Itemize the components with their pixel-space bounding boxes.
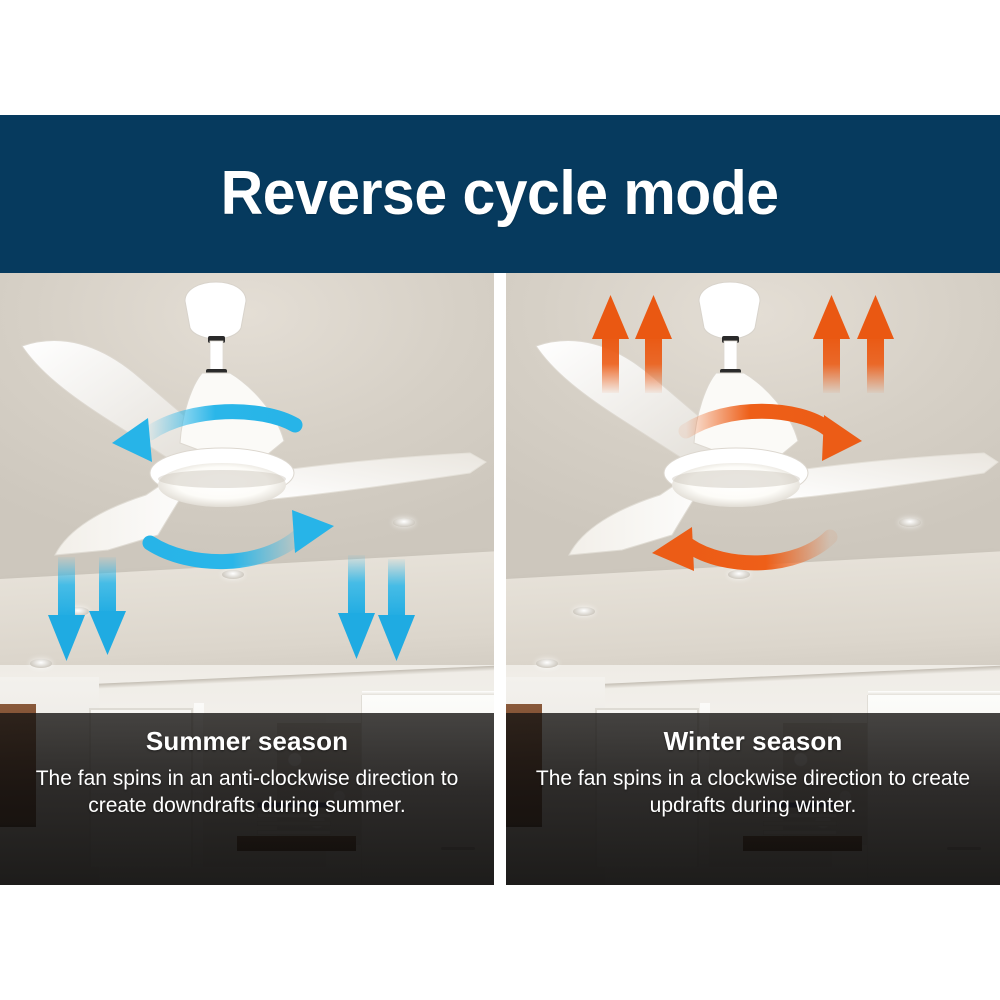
product-feature-image: Reverse cycle mode [0,0,1000,1000]
rotation-arrow-bottom [150,510,334,562]
caption-title: Summer season [146,725,348,758]
arrow-down-icon [378,559,415,661]
caption-title: Winter season [664,725,843,758]
bottom-white-margin [0,885,1000,1000]
rotation-arrow-bottom [652,527,830,571]
caption-body: The fan spins in an anti-clockwise direc… [15,765,479,821]
arrow-down-icon [48,557,85,661]
arrow-down-icon [338,555,375,659]
top-white-margin [0,0,1000,115]
caption-summer: Summer season The fan spins in an anti-c… [0,713,494,885]
arrow-up-icon [857,295,894,393]
rotation-arrow-top [112,412,295,462]
arrow-up-icon [813,295,850,393]
arrow-up-icon [635,295,672,393]
header-banner: Reverse cycle mode [0,115,1000,273]
caption-winter: Winter season The fan spins in a clockwi… [506,713,1000,885]
page-title: Reverse cycle mode [221,163,779,225]
caption-body: The fan spins in a clockwise direction t… [521,765,985,821]
arrow-up-icon [592,295,629,393]
arrow-down-icon [89,557,126,655]
panel-winter: Winter season The fan spins in a clockwi… [506,273,1000,885]
rotation-arrow-top [686,411,862,461]
panel-summer: Summer season The fan spins in an anti-c… [0,273,494,885]
comparison-panels: Summer season The fan spins in an anti-c… [0,273,1000,885]
